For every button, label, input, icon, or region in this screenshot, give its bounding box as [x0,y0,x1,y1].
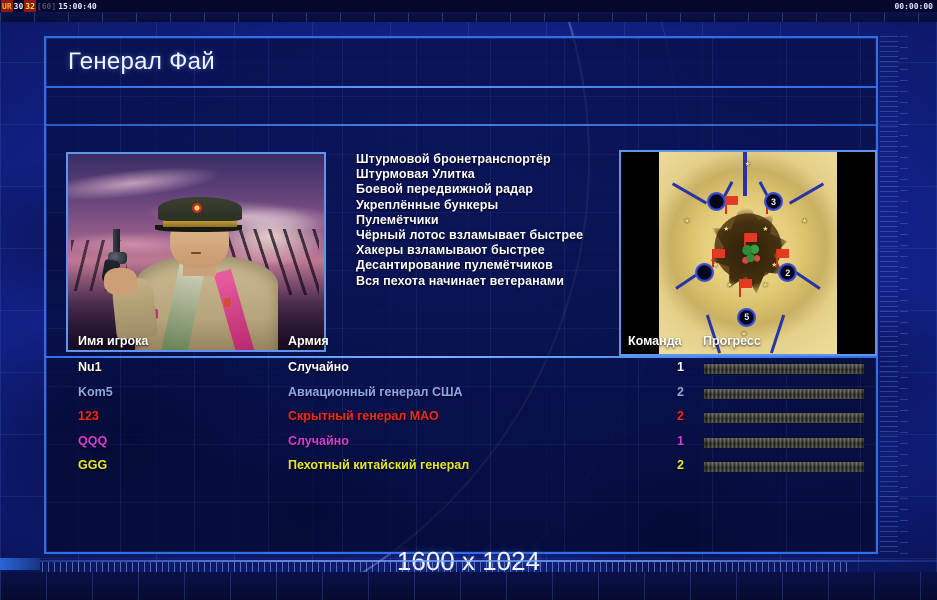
minimap-flag [725,196,739,214]
status-value-2: 32 [24,0,36,13]
bottom-left-corner-block [0,558,40,570]
player-team: 2 [654,458,684,472]
table-row[interactable]: Kom5 Авиационный генерал США 2 [46,385,876,410]
player-army: Случайно [288,434,349,448]
minimap-vegetation [741,243,762,267]
column-header-name: Имя игрока [78,334,148,348]
title-divider-secondary [46,124,876,126]
table-row[interactable]: QQQ Случайно 1 [46,434,876,459]
minimap-star-icon: ★ [727,281,733,289]
portrait-medal [224,298,231,307]
player-team: 1 [654,360,684,374]
bottom-ruler-ticks [42,562,852,572]
ability-item: Вся пехота начинает ветеранами [356,274,636,289]
ability-item: Боевой передвижной радар [356,182,636,197]
minimap-spawn-point [707,192,726,211]
minimap-star-icon: ★ [771,261,777,269]
player-name: GGG [78,458,107,472]
table-row[interactable]: GGG Пехотный китайский генерал 2 [46,458,876,483]
table-row[interactable]: Nu1 Случайно 1 [46,360,876,385]
table-header-row: Имя игрока Армия Команда Прогресс [46,334,876,356]
player-team: 1 [654,434,684,448]
portrait-mouth [191,252,201,254]
player-table: Имя игрока Армия Команда Прогресс Nu1 Сл… [46,334,876,356]
ability-list: Штурмовой бронетранспортёр Штурмовая Ули… [356,152,636,289]
right-ruler-ticks-secondary [900,36,908,554]
player-progress-bar [703,388,865,400]
main-panel: Генерал Фай [44,36,878,554]
minimap-spawn-point: 2 [778,263,797,282]
minimap-star-icon: ★ [762,281,768,289]
status-right-clock: 00:00:00 [894,0,933,13]
ability-item: Штурмовая Улитка [356,167,636,182]
minimap[interactable]: 3 2 5 ★ ★ ★ ★ ★ ★ ★ ★ ★ ★ [619,150,877,356]
general-portrait [66,152,326,352]
column-header-team: Команда [628,334,682,348]
player-progress-bar [703,461,865,473]
column-header-progress: Прогресс [703,334,761,348]
portrait-hand [104,268,137,295]
table-header-divider [46,356,876,358]
bottom-grid [0,572,937,600]
minimap-star-icon: ★ [744,160,750,168]
minimap-star-icon: ★ [762,225,768,233]
status-clock: 15:00:40 [57,0,98,13]
player-team: 2 [654,409,684,423]
player-name: Kom5 [78,385,113,399]
player-army: Пехотный китайский генерал [288,458,469,472]
minimap-star-icon: ★ [801,217,807,225]
minimap-river [743,152,747,196]
player-progress-bar [703,437,865,449]
ability-item: Укреплённые бункеры [356,198,636,213]
minimap-star-icon: ★ [684,217,690,225]
player-name: QQQ [78,434,107,448]
player-name: 123 [78,409,99,423]
minimap-terrain: 3 2 5 ★ ★ ★ ★ ★ ★ ★ ★ ★ ★ [659,152,837,354]
minimap-star-icon: ★ [712,261,718,269]
minimap-star-icon: ★ [723,225,729,233]
table-row[interactable]: 123 Скрытный генерал МАО 2 [46,409,876,434]
player-progress-bar [703,412,865,424]
status-value-1: 30 [13,0,25,13]
minimap-spawn-point [695,263,714,282]
ability-item: Чёрный лотос взламывает быстрее [356,228,636,243]
right-ruler-ticks [880,36,898,554]
ability-item: Пулемётчики [356,213,636,228]
title-divider [46,86,876,88]
ability-item: Хакеры взламывают быстрее [356,243,636,258]
player-army: Случайно [288,360,349,374]
status-tag: UR [1,0,13,13]
player-name: Nu1 [78,360,102,374]
minimap-river [789,183,824,205]
player-army: Авиационный генерал США [288,385,463,399]
table-body: Nu1 Случайно 1 Kom5 Авиационный генерал … [46,360,876,483]
game-lobby-screen: UR3032[60]15:00:40 00:00:00 Генерал Фай [0,0,937,600]
minimap-spawn-point: 5 [737,308,756,327]
ability-item: Штурмовой бронетранспортёр [356,152,636,167]
page-title: Генерал Фай [68,48,215,76]
status-bar: UR3032[60]15:00:40 00:00:00 [0,0,937,13]
minimap-flag [739,279,753,297]
status-cap: [60] [36,0,57,13]
ability-item: Десантирование пулемётчиков [356,258,636,273]
cap-badge-icon [192,203,202,213]
minimap-spawn-point: 3 [764,192,783,211]
player-progress-bar [703,363,865,375]
minimap-river [672,183,707,205]
column-header-army: Армия [288,334,329,348]
general-info-row: Штурмовой бронетранспортёр Штурмовая Ули… [46,128,876,360]
player-army: Скрытный генерал МАО [288,409,439,423]
player-team: 2 [654,385,684,399]
top-ruler-ticks [0,13,937,22]
